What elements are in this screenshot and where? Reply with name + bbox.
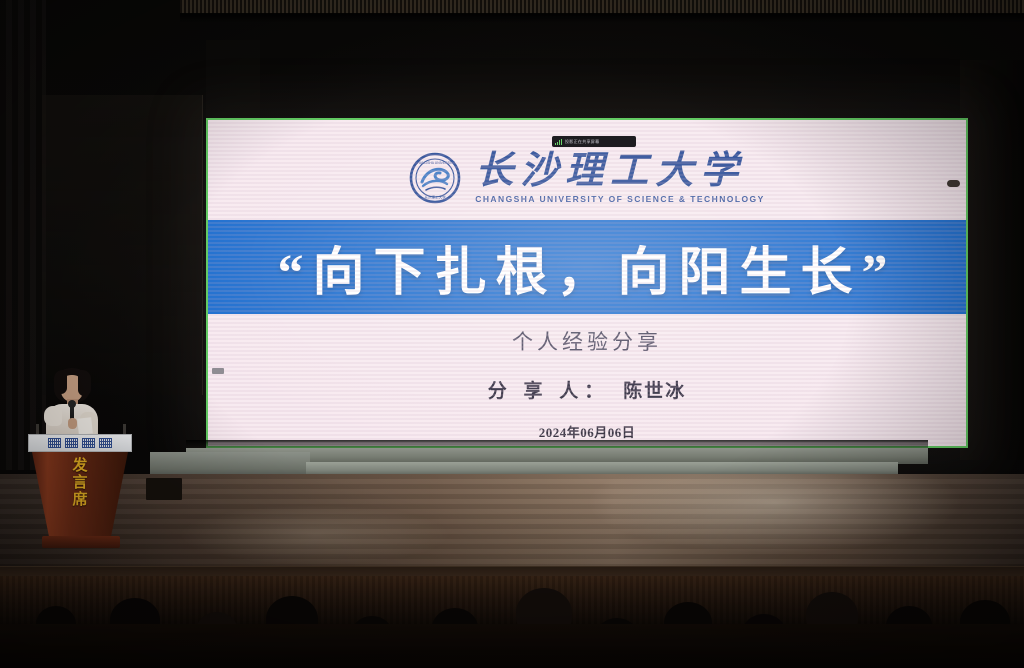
speaker-hair-right [78, 370, 91, 396]
stage-equipment-box [146, 478, 182, 500]
svg-text:长沙理工大学: 长沙理工大学 [424, 195, 446, 200]
ceiling-shadow [180, 13, 1024, 23]
university-name-block: 长沙理工大学 CHANGSHA UNIVERSITY OF SCIENCE & … [475, 152, 765, 204]
svg-text:CHANGSHA UNIVERSITY: CHANGSHA UNIVERSITY [415, 161, 456, 165]
presenter-name: 陈世冰 [623, 381, 686, 402]
auditorium-scene: CHANGSHA UNIVERSITY 长沙理工大学 长沙理工大学 CHANGS… [0, 0, 1024, 668]
led-glyph-3 [82, 438, 95, 448]
podium-led-banner [28, 434, 132, 452]
projected-slide: CHANGSHA UNIVERSITY 长沙理工大学 长沙理工大学 CHANGS… [208, 120, 966, 446]
back-wall-panel-left [42, 95, 203, 395]
stage-step-left [150, 452, 310, 476]
podium-sign-char-3: 席 [72, 493, 87, 509]
status-chip-text: 投影正在共享屏幕 [565, 139, 599, 145]
slide-subtitle: 个人经验分享 [208, 326, 966, 356]
screen-sensor [947, 180, 960, 187]
speaker-hair-left [54, 370, 67, 394]
changsha-university-emblem-icon: CHANGSHA UNIVERSITY 长沙理工大学 [409, 152, 461, 204]
podium-sign-char-1: 发 [72, 459, 87, 475]
led-glyph-1 [48, 438, 61, 448]
screen-hardware-tab [212, 368, 224, 374]
presenter-label: 分 享 人： [488, 381, 610, 402]
podium-sign-char-2: 言 [72, 476, 87, 492]
microphone-head-icon [68, 400, 76, 408]
speaker-shoulder-left [44, 406, 62, 426]
projection-screen: CHANGSHA UNIVERSITY 长沙理工大学 长沙理工大学 CHANGS… [206, 118, 968, 448]
ceiling-lighting-batten [180, 0, 1024, 14]
university-name-en: CHANGSHA UNIVERSITY OF SCIENCE & TECHNOL… [475, 194, 765, 204]
led-glyph-2 [65, 438, 78, 448]
signal-bars-icon [555, 139, 562, 145]
slide-date: 2024年06月06日 [208, 422, 966, 441]
podium-sign: 发 言 席 [32, 456, 128, 536]
podium-base [42, 536, 120, 548]
slide-title: “向下扎根，向阳生长” [277, 230, 896, 305]
slide-presenter-line: 分 享 人：陈世冰 [208, 376, 966, 403]
led-glyph-4 [99, 438, 112, 448]
screen-share-status-chip: 投影正在共享屏幕 [552, 136, 636, 147]
podium-group: 发 言 席 [14, 368, 146, 568]
audience-seat-row [0, 624, 1024, 668]
slide-header: CHANGSHA UNIVERSITY 长沙理工大学 长沙理工大学 CHANGS… [208, 142, 966, 214]
back-wall-panel-right [960, 60, 1024, 460]
university-name-cn: 长沙理工大学 [475, 152, 745, 190]
slide-title-banner: “向下扎根，向阳生长” [208, 220, 966, 314]
